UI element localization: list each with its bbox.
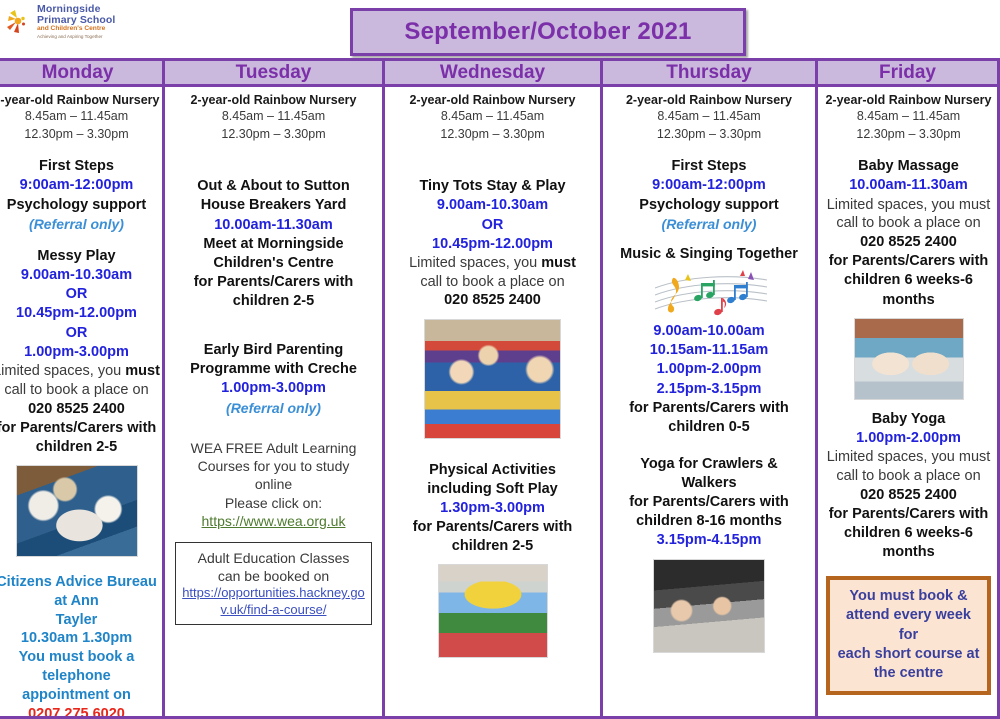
activity-audience-2: children 2-5 [169,292,378,311]
week-timetable: Monday 2-year-old Rainbow Nursery 8.45am… [0,58,1000,719]
activity-phone[interactable]: 020 8525 2400 [0,400,160,419]
nursery-time-am: 8.45am – 11.45am [0,107,160,125]
nursery-time-pm: 12.30pm – 3.30pm [389,125,596,143]
cell-thursday: 2-year-old Rainbow Nursery 8.45am – 11.4… [603,87,815,719]
activity-booking-note-2: call to book a place on [389,273,596,292]
cell-friday: 2-year-old Rainbow Nursery 8.45am – 11.4… [818,87,997,719]
activity-audience-1: for Parents/Carers with [389,518,596,537]
activity-name-2: Programme with Creche [169,360,378,379]
timetable-page: Morningside Primary School and Children'… [0,0,1000,719]
activity-name-2: including Soft Play [389,480,596,499]
morningside-sunburst-logo [6,7,32,37]
note-emphasis: must [541,255,576,271]
activity-name-2: House Breakers Yard [169,196,378,215]
activity-subtitle: Psychology support [607,196,811,215]
activity-time-1: 9.00am-10.00am [607,322,811,341]
month-title-box: September/October 2021 [350,8,746,56]
soft-play-photo [438,564,548,658]
day-label-thursday: Thursday [666,62,752,84]
wea-line-4: Please click on: [169,494,378,512]
activity-audience-1: for Parents/Carers with [607,399,811,418]
activity-music-singing: Music & Singing Together [607,245,811,437]
nursery-title: 2-year-old Rainbow Nursery [0,93,160,107]
day-header-friday: Friday [818,58,997,87]
activity-audience-2: children 8-16 months [607,512,811,531]
day-label-monday: Monday [42,62,114,84]
activity-audience-3: months [820,291,997,310]
column-wednesday: Wednesday 2-year-old Rainbow Nursery 8.4… [382,58,603,719]
note-text: Limited spaces, you [409,255,541,271]
activity-name: Music & Singing Together [607,245,811,264]
activity-meet-1: Meet at Morningside [169,235,378,254]
activity-baby-yoga: Baby Yoga 1.00pm-2.00pm Limited spaces, … [820,410,997,562]
activity-name-1: Physical Activities [389,461,596,480]
adult-ed-link[interactable]: https://opportunities.hackney.gov.uk/fin… [180,585,367,618]
cab-phone[interactable]: 0207 275 6020 [0,705,160,719]
activity-name: First Steps [0,157,160,176]
nursery-time-am: 8.45am – 11.45am [389,107,596,125]
cab-time: 10.30am 1.30pm [0,629,160,648]
activity-audience-3: months [820,543,997,562]
activity-or-1: OR [0,285,160,304]
wea-link[interactable]: https://www.wea.org.uk [169,512,378,530]
activity-audience-1: for Parents/Carers with [820,505,997,524]
activity-time: 1.00pm-3.00pm [169,379,378,398]
baby-massage-photo [854,318,964,400]
activity-name-1: Yoga for Crawlers & [607,455,811,474]
activity-audience-2: children 0-5 [607,418,811,437]
activity-booking-note-2: call to book a place on [820,467,997,486]
column-friday: Friday 2-year-old Rainbow Nursery 8.45am… [815,58,1000,719]
activity-time: 3.15pm-4.15pm [607,531,811,550]
cab-line-4: You must book a telephone [0,648,160,686]
column-monday: Monday 2-year-old Rainbow Nursery 8.45am… [0,58,165,719]
logo-wordmark: Morningside Primary School and Children'… [37,4,115,39]
activity-time: 1.00pm-2.00pm [820,429,997,448]
day-label-tuesday: Tuesday [236,62,312,84]
activity-early-bird: Early Bird Parenting Programme with Crec… [169,341,378,417]
nursery-time-am: 8.45am – 11.45am [169,107,378,125]
activity-phone[interactable]: 020 8525 2400 [820,486,997,505]
activity-time-3: 1.00pm-2.00pm [607,360,811,379]
activity-wea-courses: WEA FREE Adult Learning Courses for you … [169,439,378,530]
activity-meet-2: Children's Centre [169,254,378,273]
activity-audience-2: children 2-5 [0,438,160,457]
activity-audience-2: children 2-5 [389,537,596,556]
day-label-wednesday: Wednesday [440,62,545,84]
activity-first-steps: First Steps 9:00am-12:00pm Psychology su… [0,157,160,233]
activity-name-1: Out & About to Sutton [169,177,378,196]
day-header-thursday: Thursday [603,58,815,87]
activity-audience-2: children 6 weeks-6 [820,271,997,290]
booking-notice-box: You must book & attend every week for ea… [826,576,991,694]
day-label-friday: Friday [879,62,936,84]
tiny-tots-photo [424,319,561,439]
activity-time-2: 10.15am-11.15am [607,341,811,360]
activity-referral-note: (Referral only) [169,399,378,417]
activity-time: 9:00am-12:00pm [0,176,160,195]
activity-referral-note: (Referral only) [0,215,160,233]
nursery-time-pm: 12.30pm – 3.30pm [607,125,811,143]
activity-first-steps: First Steps 9:00am-12:00pm Psychology su… [607,157,811,233]
cab-line-1: Citizens Advice Bureau at Ann [0,573,160,611]
logo-line-2: Primary School [37,15,115,26]
activity-time-1: 9.00am-10.30am [0,266,160,285]
adult-education-box: Adult Education Classes can be booked on… [175,542,372,625]
baby-yoga-photo [653,559,765,653]
activity-baby-massage: Baby Massage 10.00am-11.30am Limited spa… [820,157,997,399]
day-header-wednesday: Wednesday [385,58,600,87]
activity-physical-activities: Physical Activities including Soft Play … [389,461,596,659]
school-logo: Morningside Primary School and Children'… [6,4,115,39]
cab-line-2: Tayler [0,611,160,630]
activity-booking-note-1: Limited spaces, you must [0,362,160,381]
nursery-time-pm: 12.30pm – 3.30pm [0,125,160,143]
activity-time: 10.00am-11.30am [820,176,997,195]
activity-name: Baby Yoga [820,410,997,429]
nursery-time-am: 8.45am – 11.45am [607,107,811,125]
activity-audience-1: for Parents/Carers with [607,493,811,512]
wea-line-2: Courses for you to study [169,457,378,475]
note-text: Limited spaces, you [0,363,125,379]
activity-booking-note-2: call to book a place on [820,214,997,233]
notice-line-4: the centre [874,665,943,681]
cell-tuesday: 2-year-old Rainbow Nursery 8.45am – 11.4… [165,87,382,719]
activity-time: 9:00am-12:00pm [607,176,811,195]
activity-time-4: 2.15pm-3.15pm [607,380,811,399]
activity-referral-note: (Referral only) [607,215,811,233]
nursery-time-pm: 12.30pm – 3.30pm [820,125,997,143]
activity-yoga-crawlers: Yoga for Crawlers & Walkers for Parents/… [607,455,811,653]
messy-play-photo [16,465,138,557]
activity-citizens-advice: Citizens Advice Bureau at Ann Tayler 10.… [0,573,160,719]
notice-line-2: attend every week for [846,607,971,642]
nursery-title: 2-year-old Rainbow Nursery [389,93,596,107]
logo-line-3: and Children's Centre [37,26,115,33]
adult-ed-line-1: Adult Education Classes [180,549,367,567]
activity-booking-note-2: call to book a place on [0,381,160,400]
page-title: September/October 2021 [404,18,691,46]
activity-messy-play: Messy Play 9.00am-10.30am OR 10.45pm-12.… [0,247,160,557]
activity-or-2: OR [0,324,160,343]
activity-out-and-about: Out & About to Sutton House Breakers Yar… [169,177,378,311]
nursery-title: 2-year-old Rainbow Nursery [820,93,997,107]
page-header: Morningside Primary School and Children'… [0,0,1000,58]
activity-time-2: 10.45pm-12.00pm [389,235,596,254]
activity-time: 10.00am-11.30am [169,216,378,235]
nursery-title: 2-year-old Rainbow Nursery [607,93,811,107]
nursery-time-am: 8.45am – 11.45am [820,107,997,125]
cab-line-5: appointment on [0,686,160,705]
activity-phone[interactable]: 020 8525 2400 [389,291,596,310]
activity-time: 1.30pm-3.00pm [389,499,596,518]
wea-line-1: WEA FREE Adult Learning [169,439,378,457]
activity-time-1: 9.00am-10.30am [389,196,596,215]
column-thursday: Thursday 2-year-old Rainbow Nursery 8.45… [600,58,818,719]
cell-monday: 2-year-old Rainbow Nursery 8.45am – 11.4… [0,87,162,719]
activity-name-1: Early Bird Parenting [169,341,378,360]
notice-line-1: You must book & [849,588,967,604]
activity-name-2: Walkers [607,474,811,493]
activity-tiny-tots: Tiny Tots Stay & Play 9.00am-10.30am OR … [389,177,596,438]
column-tuesday: Tuesday 2-year-old Rainbow Nursery 8.45a… [162,58,385,719]
activity-time-2: 10.45pm-12.00pm [0,304,160,323]
activity-booking-note-1: Limited spaces, you must [820,448,997,467]
adult-ed-line-2: can be booked on [180,567,367,585]
notice-line-3: each short course at [838,646,980,662]
music-notes-clipart [647,268,772,320]
activity-name: Messy Play [0,247,160,266]
activity-name: Baby Massage [820,157,997,176]
activity-name: First Steps [607,157,811,176]
activity-audience-1: for Parents/Carers with [169,273,378,292]
note-emphasis: must [125,363,160,379]
nursery-time-pm: 12.30pm – 3.30pm [169,125,378,143]
activity-audience-2: children 6 weeks-6 [820,524,997,543]
wea-line-3: online [169,475,378,493]
activity-audience-1: for Parents/Carers with [0,419,160,438]
logo-tagline: Achieving and Aspiring Together [37,35,115,40]
activity-audience-1: for Parents/Carers with [820,252,997,271]
cell-wednesday: 2-year-old Rainbow Nursery 8.45am – 11.4… [385,87,600,719]
activity-time-3: 1.00pm-3.00pm [0,343,160,362]
activity-or: OR [389,216,596,235]
activity-phone[interactable]: 020 8525 2400 [820,233,997,252]
activity-name: Tiny Tots Stay & Play [389,177,596,196]
activity-booking-note-1: Limited spaces, you must [820,196,997,215]
nursery-title: 2-year-old Rainbow Nursery [169,93,378,107]
day-header-tuesday: Tuesday [165,58,382,87]
activity-subtitle: Psychology support [0,196,160,215]
day-header-monday: Monday [0,58,162,87]
activity-booking-note-1: Limited spaces, you must [389,254,596,273]
